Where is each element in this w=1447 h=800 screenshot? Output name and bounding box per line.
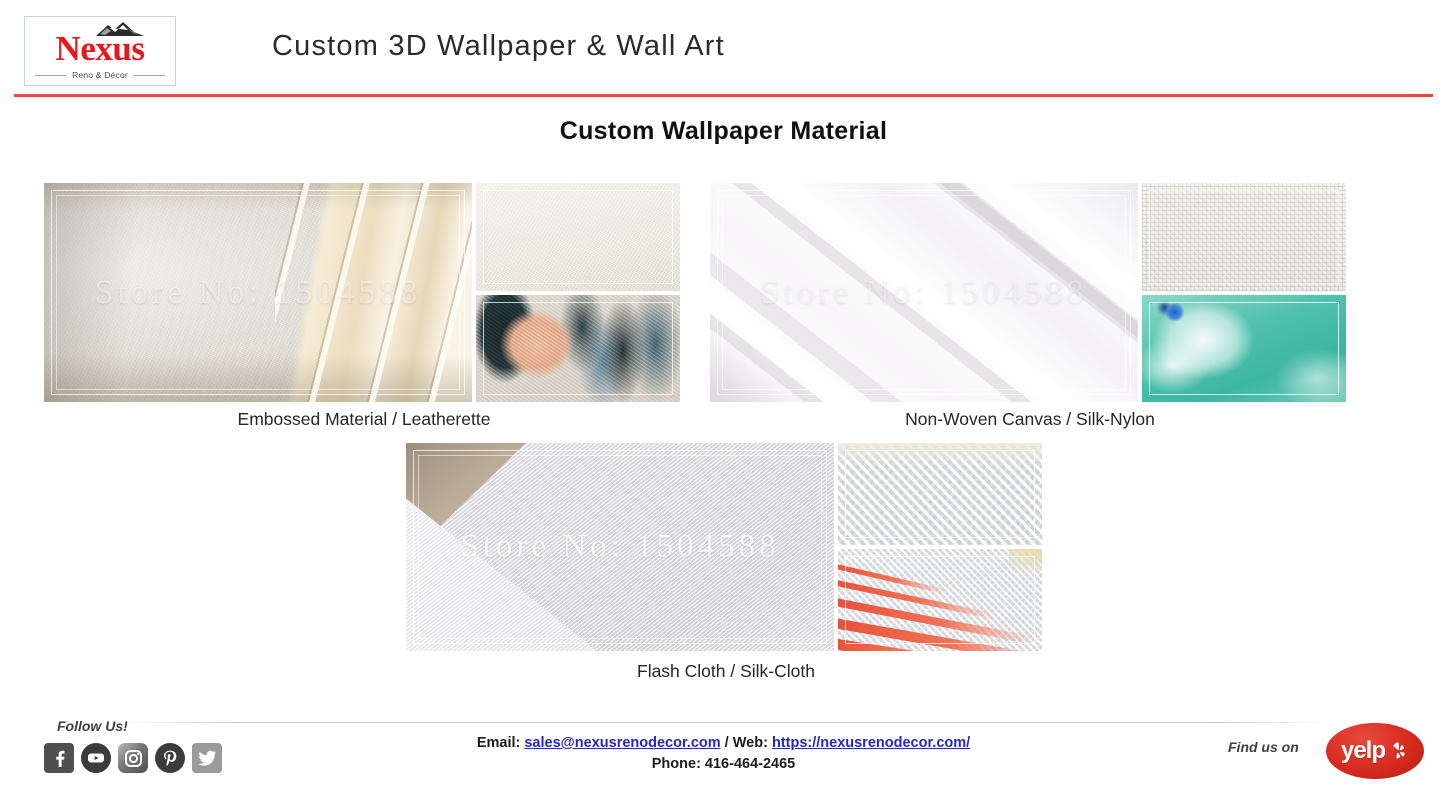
swatch-diamond-mesh[interactable] (838, 443, 1042, 545)
mesh-top-shade (838, 443, 1042, 465)
find-us-on-label: Find us on (1228, 739, 1299, 755)
roll-edges (275, 183, 472, 402)
swatch-woven-canvas[interactable] (1142, 183, 1346, 291)
swatch-embossed-print[interactable] (476, 295, 680, 402)
panel-embossed-swatches (476, 183, 680, 402)
yelp-wordmark: yelp (1341, 737, 1385, 765)
caption-flash-cloth: Flash Cloth / Silk-Cloth (406, 661, 1046, 682)
image-silk-drape[interactable]: Store No: 1504588 (710, 183, 1138, 402)
logo-wordmark: Nexus (25, 30, 175, 68)
panel-flash-cloth-swatches (838, 443, 1042, 651)
logo-rule-left (35, 75, 66, 76)
image-embossed-roll[interactable]: Store No: 1504588 (44, 183, 472, 402)
slide-canvas: Nexus Reno & Décor Custom 3D Wallpaper &… (0, 0, 1447, 800)
website-link[interactable]: https://nexusrenodecor.com/ (772, 735, 970, 751)
footer-divider (120, 722, 1330, 723)
header-divider (14, 94, 1433, 97)
silk-shading (710, 183, 1138, 402)
swatch-orange-mesh[interactable] (838, 549, 1042, 651)
caption-non-woven: Non-Woven Canvas / Silk-Nylon (710, 409, 1350, 430)
logo-tagline: Reno & Décor (72, 70, 128, 80)
swatch-teal-floral[interactable] (1142, 295, 1346, 402)
follow-us-label: Follow Us! (57, 718, 128, 734)
section-title: Custom Wallpaper Material (0, 117, 1447, 146)
image-flash-cloth[interactable]: Store No: 1504588 (406, 443, 834, 651)
yelp-burst-icon (1387, 740, 1409, 762)
panel-embossed-images: Store No: 1504588 (44, 183, 680, 402)
panel-embossed[interactable]: Store No: 1504588 (44, 183, 680, 402)
email-link[interactable]: sales@nexusrenodecor.com (524, 735, 720, 751)
logo-tagline-wrap: Reno & Décor (25, 70, 175, 80)
page-header: Nexus Reno & Décor Custom 3D Wallpaper &… (0, 0, 1447, 96)
yelp-badge[interactable]: yelp (1326, 723, 1424, 779)
mesh-corner-shade (1009, 549, 1042, 571)
contact-separator: / (725, 735, 729, 751)
panel-non-woven[interactable]: Store No: 1504588 (710, 183, 1346, 402)
panel-non-woven-images: Store No: 1504588 (710, 183, 1346, 402)
swatch-embossed-texture[interactable] (476, 183, 680, 291)
logo-rule-right (134, 75, 165, 76)
page-title: Custom 3D Wallpaper & Wall Art (272, 30, 725, 63)
panel-flash-cloth-images: Store No: 1504588 (406, 443, 1042, 651)
email-label: Email: (477, 735, 521, 751)
nexus-logo[interactable]: Nexus Reno & Décor (24, 16, 176, 86)
caption-embossed: Embossed Material / Leatherette (44, 409, 684, 430)
web-label: Web: (733, 735, 768, 751)
panel-flash-cloth[interactable]: Store No: 1504588 (406, 443, 1042, 651)
phone-line: Phone: 416-464-2465 (0, 754, 1447, 775)
panel-non-woven-swatches (1142, 183, 1346, 402)
